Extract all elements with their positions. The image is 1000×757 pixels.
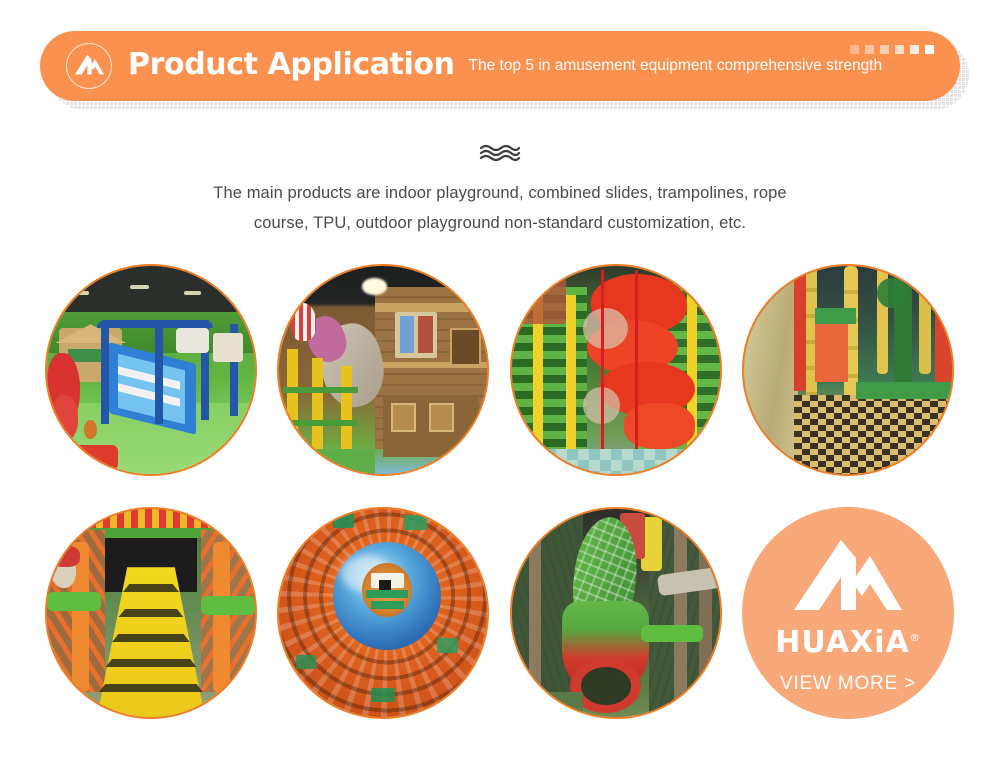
gallery-item-red-spiral-tube-slide[interactable] <box>510 264 722 476</box>
gallery-image <box>47 266 255 474</box>
gallery-item-wooden-ship-playground[interactable] <box>277 264 489 476</box>
gallery-item-tiger-stripe-yellow-slide[interactable] <box>45 507 257 719</box>
gallery-image <box>279 266 487 474</box>
view-more-label[interactable]: VIEW MORE > <box>780 674 916 693</box>
brand-wordmark: HUAXiA® <box>775 628 920 658</box>
brand-name: HUAXiA <box>775 625 909 660</box>
gallery-grid: HUAXiA® VIEW MORE > <box>0 0 1000 757</box>
gallery-item-rope-tunnel-blue-center[interactable] <box>277 507 489 719</box>
gallery-image <box>512 509 720 717</box>
gallery-item-indoor-playground-green-hall[interactable] <box>45 264 257 476</box>
trademark-symbol: ® <box>910 633 921 644</box>
product-application-page: Product Application The top 5 in amuseme… <box>0 0 1000 757</box>
huaxia-mountain-icon <box>792 538 904 623</box>
gallery-item-green-mesh-tube-tunnel[interactable] <box>510 507 722 719</box>
gallery-image <box>279 509 487 717</box>
gallery-item-yellow-padded-climbing-columns[interactable] <box>742 264 954 476</box>
gallery-image <box>512 266 720 474</box>
gallery-image <box>744 266 952 474</box>
gallery-image <box>47 509 255 717</box>
view-more-button[interactable]: HUAXiA® VIEW MORE > <box>742 507 954 719</box>
